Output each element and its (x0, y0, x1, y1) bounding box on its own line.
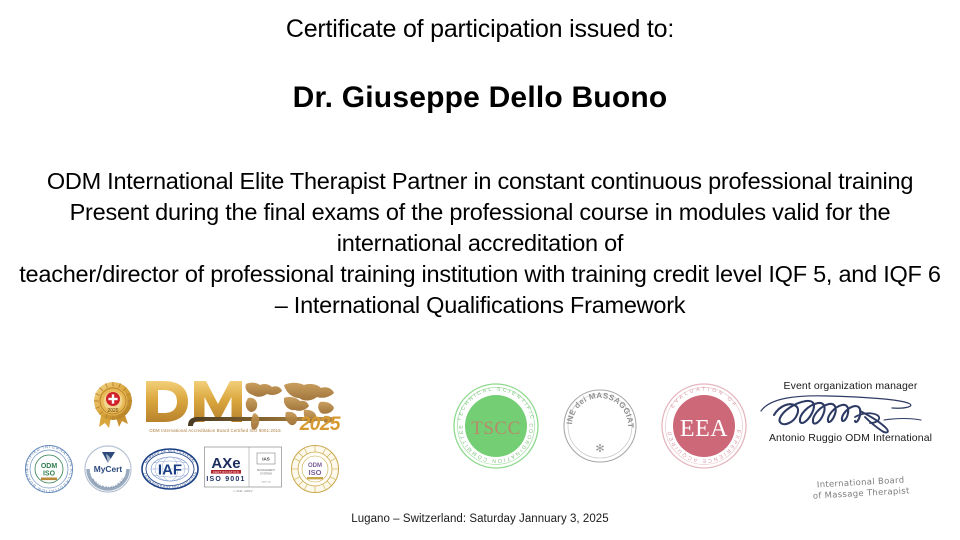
svg-text:ISO: ISO (43, 471, 56, 478)
odm-iso-gold-seal-graphic: ODM ISO (288, 444, 342, 494)
axe-iso-9001-graphic: AXe CERTIFICATION ISO 9001 IAS MANAGEMEN… (204, 444, 282, 494)
certificate-body: ODM International Elite Therapist Partne… (14, 166, 946, 321)
signer-name: Antonio Ruggio ODM International (748, 432, 953, 444)
ordine-dei-massaggiatori-seal: ORDINE dei MASSAGGIATORI ✻ (556, 382, 644, 470)
svg-text:CERT. No: CERT. No (261, 482, 271, 484)
recipient-name: Dr. Giuseppe Dello Buono (0, 80, 960, 116)
odm-iso-green-seal-graphic: CERTIFIED INTERNATIONAL ACCREDITATION BO… (22, 444, 76, 494)
accreditation-badge-strip: CERTIFIED INTERNATIONAL ACCREDITATION BO… (22, 444, 332, 496)
svg-text:SYSTEMS: SYSTEMS (260, 473, 272, 476)
svg-text:ODM: ODM (41, 463, 58, 470)
svg-text:ISO 9001: ISO 9001 (206, 476, 245, 483)
odm-letter-m (194, 381, 242, 422)
eea-seal: EVALUATION OF EXPERIENCE ACQUIRED EEA (660, 382, 748, 470)
body-paragraph-1: ODM International Elite Therapist Partne… (14, 166, 946, 197)
svg-text:✻: ✻ (595, 443, 604, 455)
odm-logo-caption: ODM International Accreditation Board Ce… (110, 428, 320, 434)
issued-to-heading: Certificate of participation issued to: (0, 14, 960, 44)
international-board-stamp: International Board of Massage Therapist (795, 474, 926, 503)
location-date-footer: Lugano – Switzerland: Saturday Jannuary … (0, 513, 960, 525)
body-paragraph-3: teacher/director of professional trainin… (14, 259, 946, 321)
svg-text:2025: 2025 (107, 408, 118, 414)
odm-rosette-medal: 2025 (94, 382, 132, 428)
svg-text:AXe: AXe (211, 455, 240, 472)
odm-iso-green-seal: CERTIFIED INTERNATIONAL ACCREDITATION BO… (22, 444, 76, 494)
handwritten-signature (756, 393, 946, 435)
svg-text:n. 0140 - 0200.2: n. 0140 - 0200.2 (234, 489, 253, 493)
eea-seal-graphic: EVALUATION OF EXPERIENCE ACQUIRED EEA (660, 382, 748, 470)
signature-role-label: Event organization manager (748, 380, 953, 392)
svg-text:MyCert: MyCert (94, 464, 123, 474)
odm-iso-gold-seal: ODM ISO (288, 444, 342, 494)
iaf-seal-graphic: MEMBER OF MULTILATERAL RECOGNITION ARRAN… (140, 444, 200, 494)
body-paragraph-2: Present during the final exams of the pr… (14, 197, 946, 259)
odm-logo-lockup: 2025 (88, 376, 338, 444)
iaf-seal: MEMBER OF MULTILATERAL RECOGNITION ARRAN… (140, 444, 200, 494)
mycert-seal: MyCert CERTIFICATION (82, 444, 134, 494)
certificate-page: Certificate of participation issued to: … (0, 0, 960, 540)
svg-text:CERTIFICATION: CERTIFICATION (213, 470, 239, 474)
axe-iso-9001-badge: AXe CERTIFICATION ISO 9001 IAS MANAGEMEN… (204, 444, 282, 494)
tscc-seal: TECHNICAL SCIENTIFIC COORDINATION COMMIT… (452, 382, 540, 470)
odm-letter-d (146, 381, 188, 422)
signature-block: Event organization manager Antonio Ruggi… (748, 380, 953, 444)
mycert-seal-graphic: MyCert CERTIFICATION (82, 444, 134, 494)
svg-text:IAS: IAS (262, 457, 270, 462)
tscc-seal-graphic: TECHNICAL SCIENTIFIC COORDINATION COMMIT… (452, 382, 540, 470)
ordine-seal-graphic: ORDINE dei MASSAGGIATORI ✻ (556, 382, 644, 470)
svg-text:EEA: EEA (680, 416, 728, 442)
svg-text:ISO: ISO (309, 468, 322, 477)
svg-text:IAF: IAF (158, 462, 182, 479)
svg-text:TSCC: TSCC (471, 418, 521, 439)
center-seal-group: TECHNICAL SCIENTIFIC COORDINATION COMMIT… (452, 382, 742, 478)
odm-logo-year: 2025 (300, 414, 340, 436)
